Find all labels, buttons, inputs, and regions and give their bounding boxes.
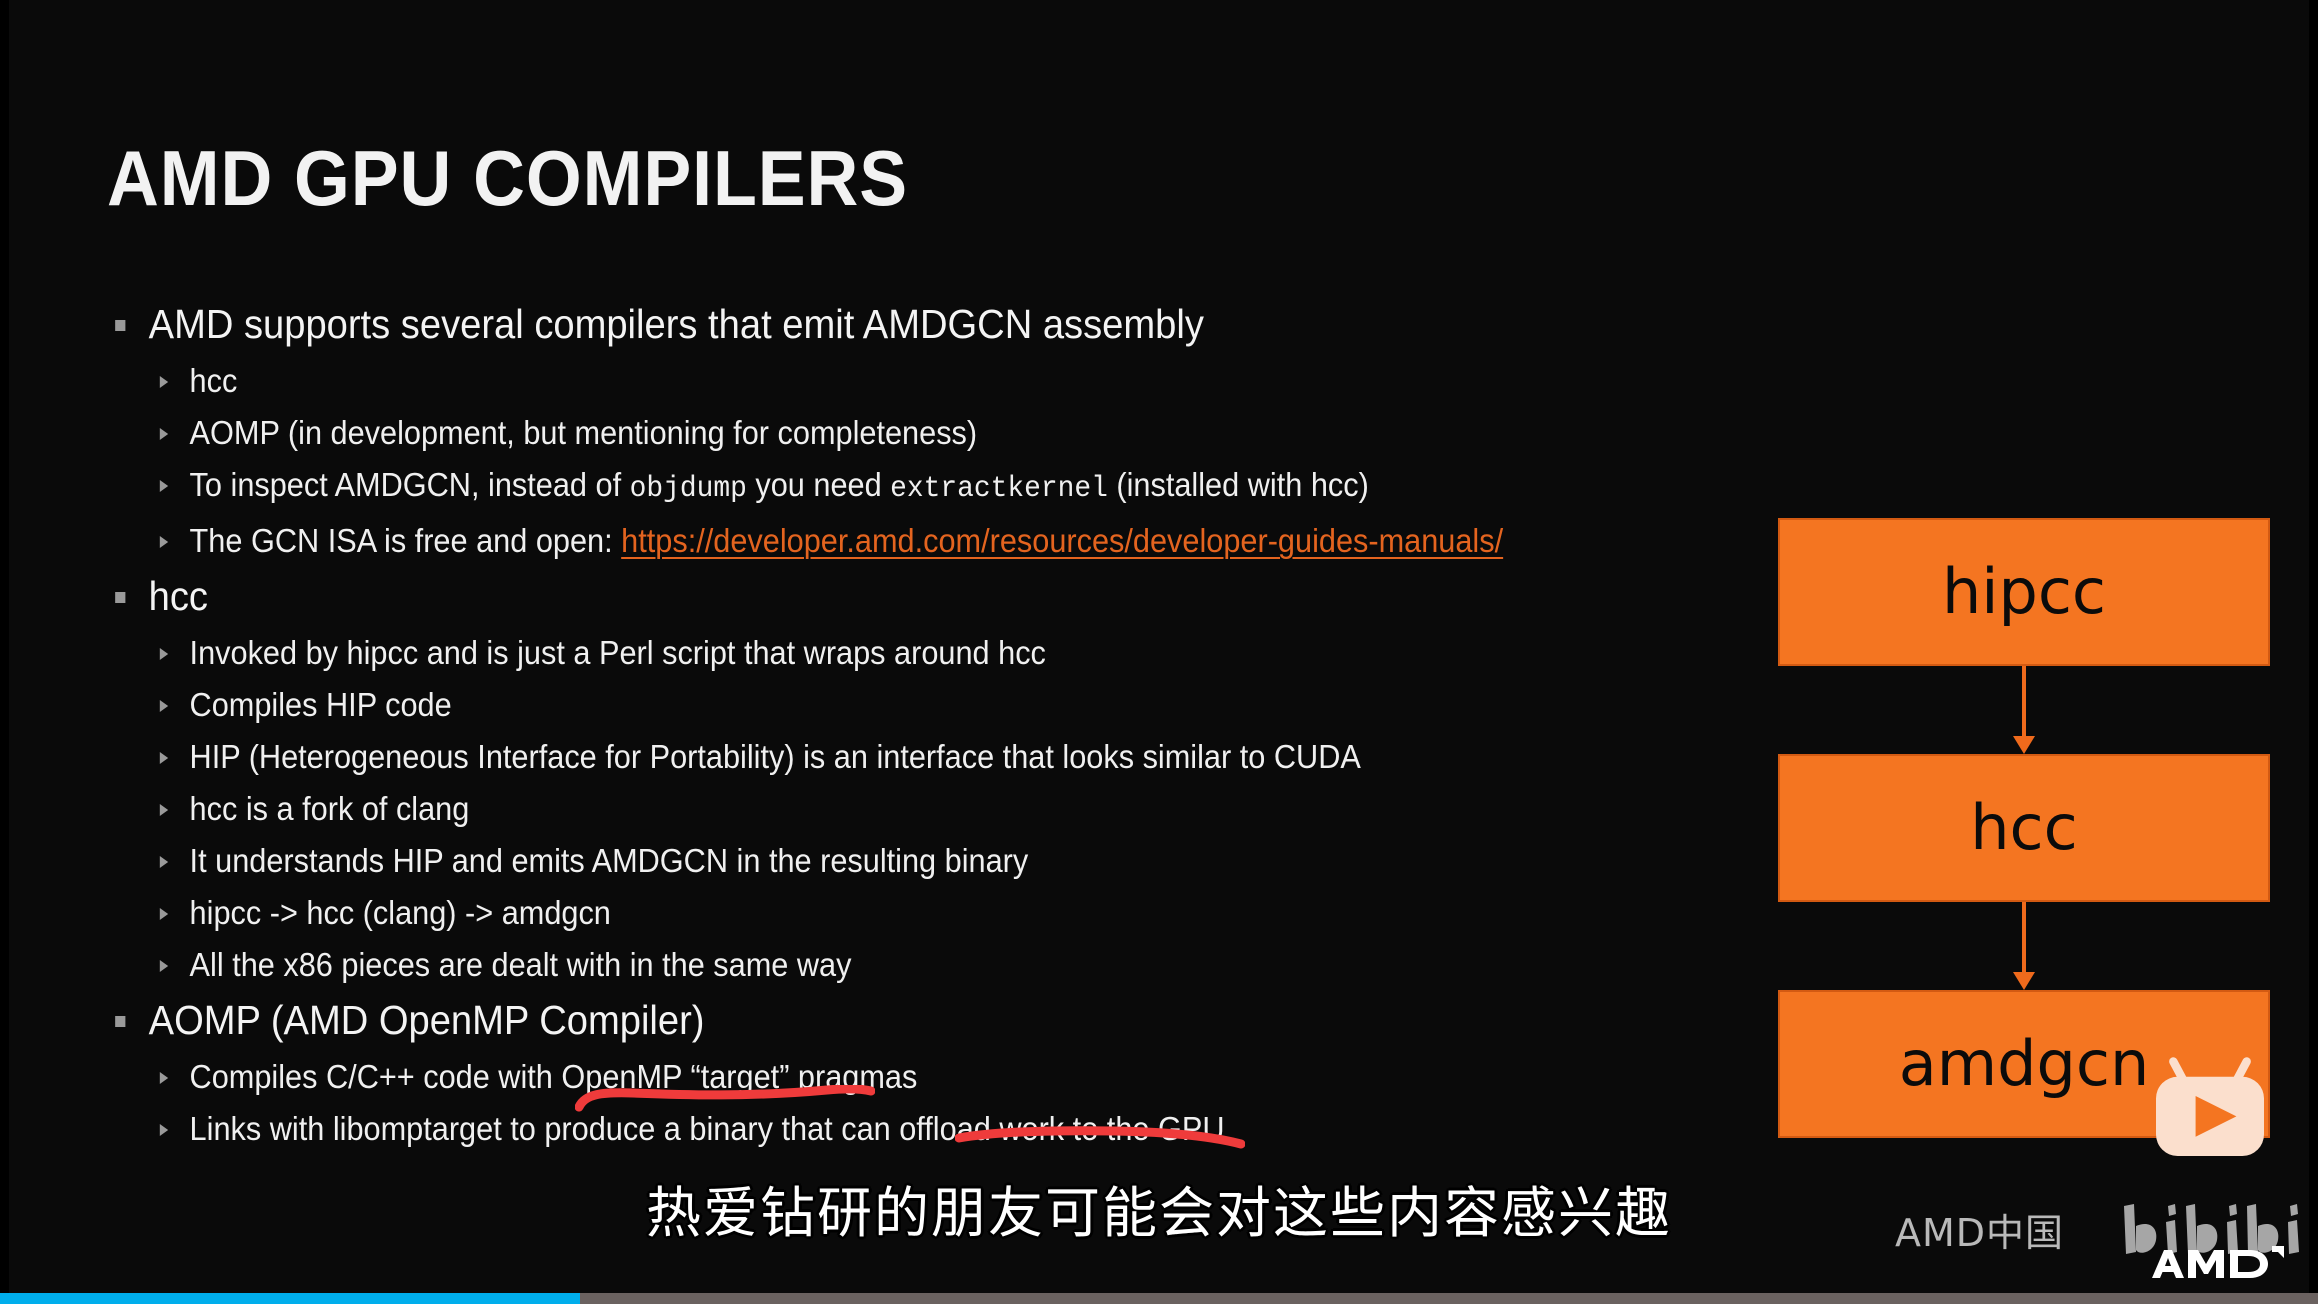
triangle-bullet-icon xyxy=(160,752,168,764)
external-link[interactable]: https://developer.amd.com/resources/deve… xyxy=(621,522,1503,559)
triangle-bullet-icon xyxy=(160,1072,168,1084)
triangle-bullet-icon xyxy=(160,480,168,492)
triangle-bullet-icon xyxy=(160,648,168,660)
diagram-arrow-head-2 xyxy=(2013,972,2035,990)
diagram-box-label: hipcc xyxy=(1942,561,2106,623)
inline-code: extractkernel xyxy=(890,472,1108,506)
bullet-text: Compiles HIP code xyxy=(190,686,452,723)
bullet-text: AMD supports several compilers that emit… xyxy=(149,301,1204,347)
diagram-box-hcc: hcc xyxy=(1778,754,2270,902)
bullet-item-level2: All the x86 pieces are dealt with in the… xyxy=(104,939,1611,991)
bullet-item-level2: hcc xyxy=(104,355,1611,407)
page-title: AMD GPU COMPILERS xyxy=(107,135,908,221)
triangle-bullet-icon xyxy=(160,428,168,440)
bullet-text: (installed with hcc) xyxy=(1108,466,1369,503)
bullet-item-level2: Compiles HIP code xyxy=(104,679,1611,731)
diagram-box-label: hcc xyxy=(1970,797,2077,859)
diagram-arrow-shaft-2 xyxy=(2022,902,2026,976)
diagram-box-hipcc: hipcc xyxy=(1778,518,2270,666)
bullet-text: It understands HIP and emits AMDGCN in t… xyxy=(190,842,1029,879)
letterbox-left xyxy=(0,0,9,1304)
bullet-list: AMD supports several compilers that emit… xyxy=(104,295,1724,1155)
inline-code: objdump xyxy=(630,472,747,506)
bullet-item-level2: It understands HIP and emits AMDGCN in t… xyxy=(104,835,1611,887)
triangle-bullet-icon xyxy=(160,536,168,548)
slide-canvas: AMD GPU COMPILERS AMD supports several c… xyxy=(0,0,2318,1304)
video-progress-track[interactable] xyxy=(0,1293,2318,1304)
bullet-text: The GCN ISA is free and open: xyxy=(190,522,622,559)
triangle-bullet-icon xyxy=(160,856,168,868)
bullet-text: AOMP (AMD OpenMP Compiler) xyxy=(149,997,705,1043)
bullet-text: hcc xyxy=(149,573,208,619)
bullet-text: HIP (Heterogeneous Interface for Portabi… xyxy=(190,738,1361,775)
compiler-flow-diagram: hipcc hcc amdgcn xyxy=(1778,518,2270,1138)
diagram-box-label: amdgcn xyxy=(1899,1033,2149,1095)
triangle-bullet-icon xyxy=(160,804,168,816)
square-bullet-icon xyxy=(115,592,125,603)
square-bullet-icon xyxy=(115,320,125,331)
bullet-text: AOMP (in development, but mentioning for… xyxy=(190,414,978,451)
bullet-item-level2: hcc is a fork of clang xyxy=(104,783,1611,835)
diagram-arrow-shaft-1 xyxy=(2022,666,2026,740)
bullet-item-level1: AMD supports several compilers that emit… xyxy=(104,295,1611,353)
bullet-item-level2: Invoked by hipcc and is just a Perl scri… xyxy=(104,627,1611,679)
triangle-bullet-icon xyxy=(160,960,168,972)
letterbox-right xyxy=(2309,0,2318,1304)
amd-logo xyxy=(2148,1242,2288,1286)
triangle-bullet-icon xyxy=(160,376,168,388)
triangle-bullet-icon xyxy=(160,908,168,920)
bullet-text: All the x86 pieces are dealt with in the… xyxy=(190,946,852,983)
video-progress-fill[interactable] xyxy=(0,1293,580,1304)
amd-china-footer: AMD中国 xyxy=(1895,1202,2064,1257)
bullet-item-level2: Links with libomptarget to produce a bin… xyxy=(104,1103,1611,1155)
bilibili-tv-icon xyxy=(2150,1048,2270,1168)
bullet-text: Invoked by hipcc and is just a Perl scri… xyxy=(190,634,1046,671)
bullet-item-level1: hcc xyxy=(104,567,1611,625)
bullet-item-level2: The GCN ISA is free and open: https://de… xyxy=(104,515,1611,567)
bullet-item-level2: HIP (Heterogeneous Interface for Portabi… xyxy=(104,731,1611,783)
bullet-item-level1: AOMP (AMD OpenMP Compiler) xyxy=(104,991,1611,1049)
bullet-text: Compiles C/C++ code with OpenMP “target”… xyxy=(190,1058,918,1095)
bullet-item-level2: Compiles C/C++ code with OpenMP “target”… xyxy=(104,1051,1611,1103)
bullet-text: To inspect AMDGCN, instead of xyxy=(190,466,630,503)
bullet-text: you need xyxy=(747,466,890,503)
diagram-arrow-head-1 xyxy=(2013,736,2035,754)
bullet-item-level2: AOMP (in development, but mentioning for… xyxy=(104,407,1611,459)
bullet-text: hipcc -> hcc (clang) -> amdgcn xyxy=(190,894,611,931)
bullet-text: hcc xyxy=(190,362,238,399)
triangle-bullet-icon xyxy=(160,700,168,712)
triangle-bullet-icon xyxy=(160,1124,168,1136)
bullet-text: hcc is a fork of clang xyxy=(190,790,470,827)
bullet-item-level2: hipcc -> hcc (clang) -> amdgcn xyxy=(104,887,1611,939)
bullet-item-level2: To inspect AMDGCN, instead of objdump yo… xyxy=(104,459,1611,515)
square-bullet-icon xyxy=(115,1016,125,1027)
bullet-text: Links with libomptarget to produce a bin… xyxy=(190,1110,1225,1147)
